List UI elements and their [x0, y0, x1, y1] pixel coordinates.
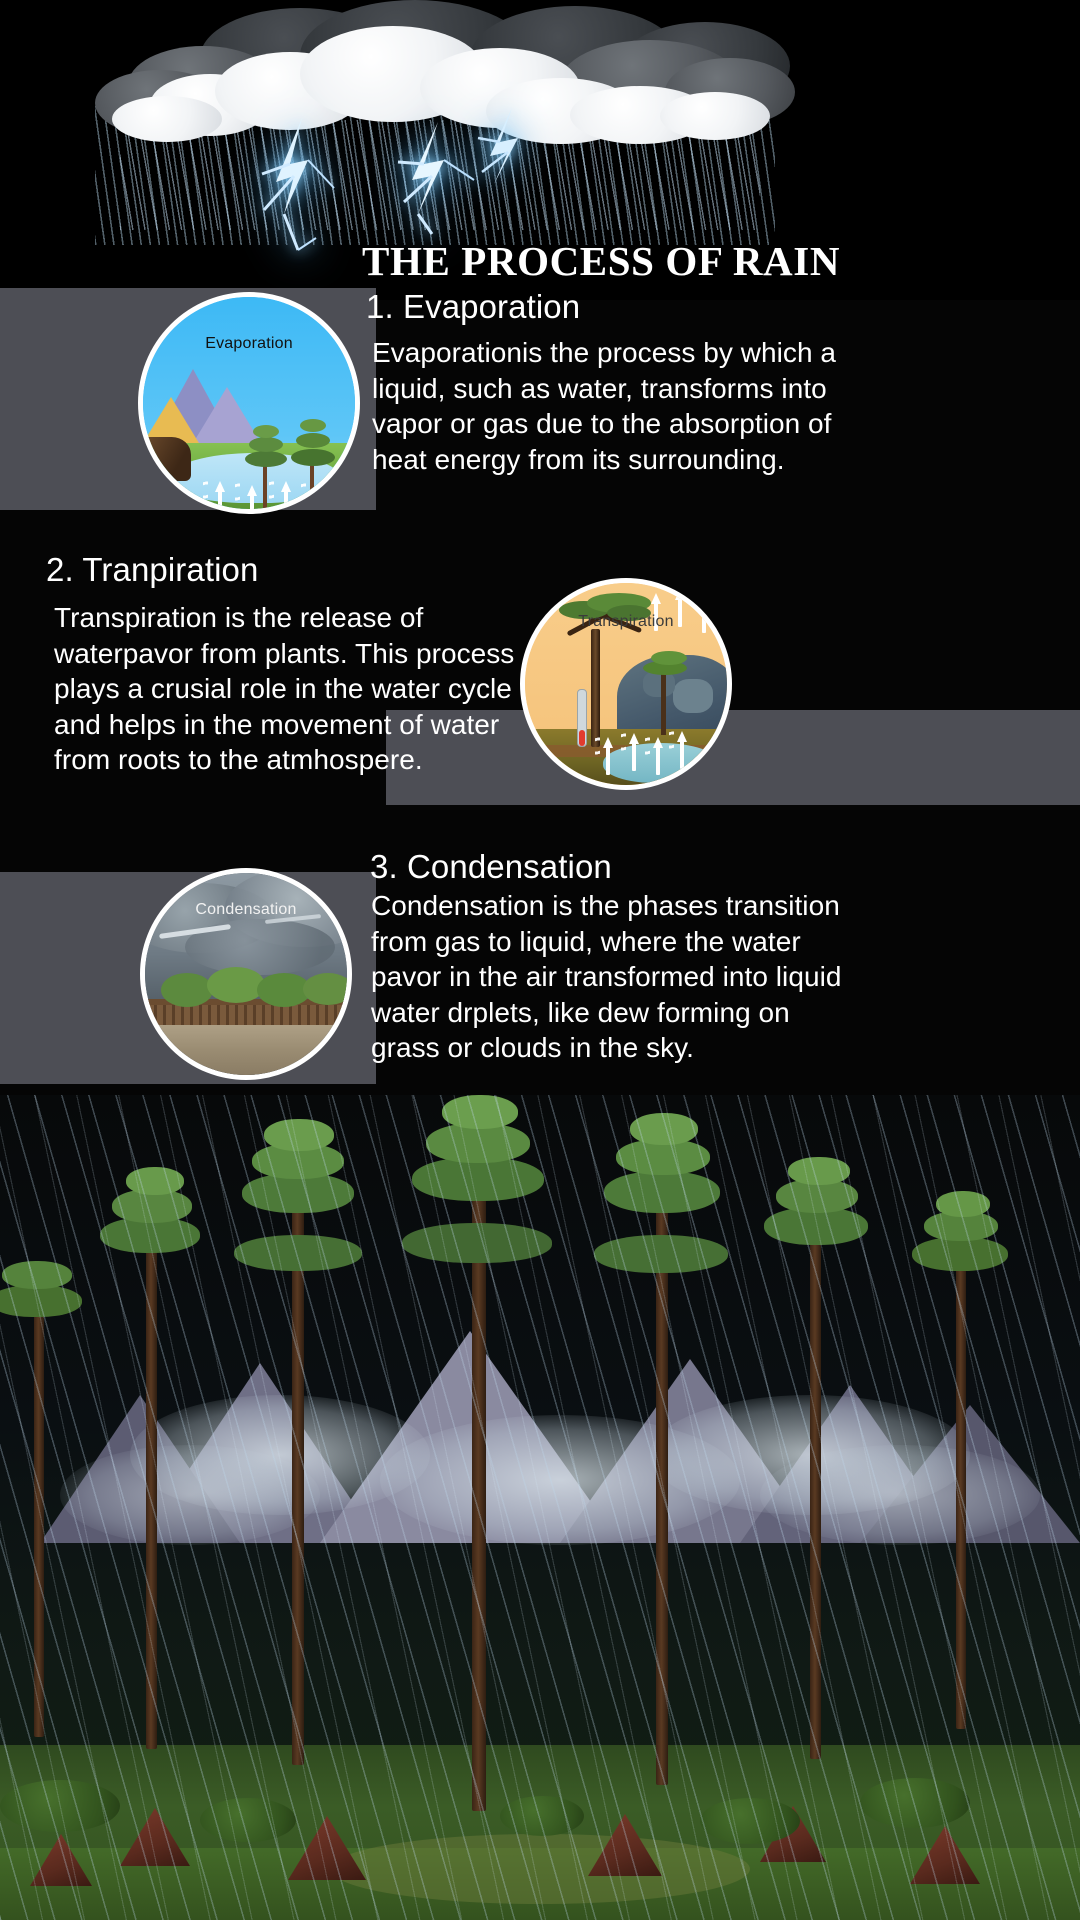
forest-illustration: [0, 1095, 1080, 1920]
section-2-heading: 2. Tranpiration: [46, 551, 258, 589]
section-2-body: Transpiration is the release of waterpav…: [54, 600, 524, 778]
rock: [643, 671, 675, 697]
cave: [143, 437, 191, 481]
vapor-squiggle: [669, 727, 674, 753]
lightning-bolt-icon: [470, 108, 560, 208]
vapor-squiggle: [235, 479, 240, 505]
evaporation-circle-label: Evaporation: [143, 335, 355, 353]
vapor-squiggle: [301, 479, 306, 505]
ground: [145, 1017, 347, 1075]
vapor-squiggle: [203, 477, 208, 503]
condensation-illustration: Condensation: [140, 868, 352, 1080]
transpiration-illustration: Transpiration: [520, 578, 732, 790]
section-3-body: Condensation is the phases transition fr…: [371, 888, 856, 1066]
section-1-body: Evaporationis the process by which a liq…: [372, 335, 842, 477]
rock: [673, 679, 713, 713]
condensation-circle-label: Condensation: [145, 901, 347, 919]
rain-overlay-secondary: [0, 1095, 1080, 1920]
lightning-bolt-icon: [250, 118, 360, 258]
infographic-poster: THE PROCESS OF RAIN Eva: [0, 0, 1080, 1920]
thermometer-icon: [577, 689, 587, 747]
tree-canopy: [207, 967, 265, 1003]
page-title: THE PROCESS OF RAIN: [362, 240, 1062, 283]
section-3-heading: 3. Condensation: [370, 848, 612, 886]
vapor-squiggle: [595, 733, 600, 759]
tree-canopy: [161, 973, 213, 1007]
section-1-heading: 1. Evaporation: [366, 288, 580, 326]
vapor-squiggle: [269, 477, 274, 503]
evaporation-illustration: Evaporation: [138, 292, 360, 514]
tree-canopy: [303, 973, 352, 1005]
vapor-squiggle: [645, 733, 650, 759]
cloud-white: [660, 92, 770, 140]
transpiration-circle-label: Transpiration: [525, 613, 727, 631]
vapor-squiggle: [621, 729, 626, 755]
cloud-white: [112, 96, 222, 142]
